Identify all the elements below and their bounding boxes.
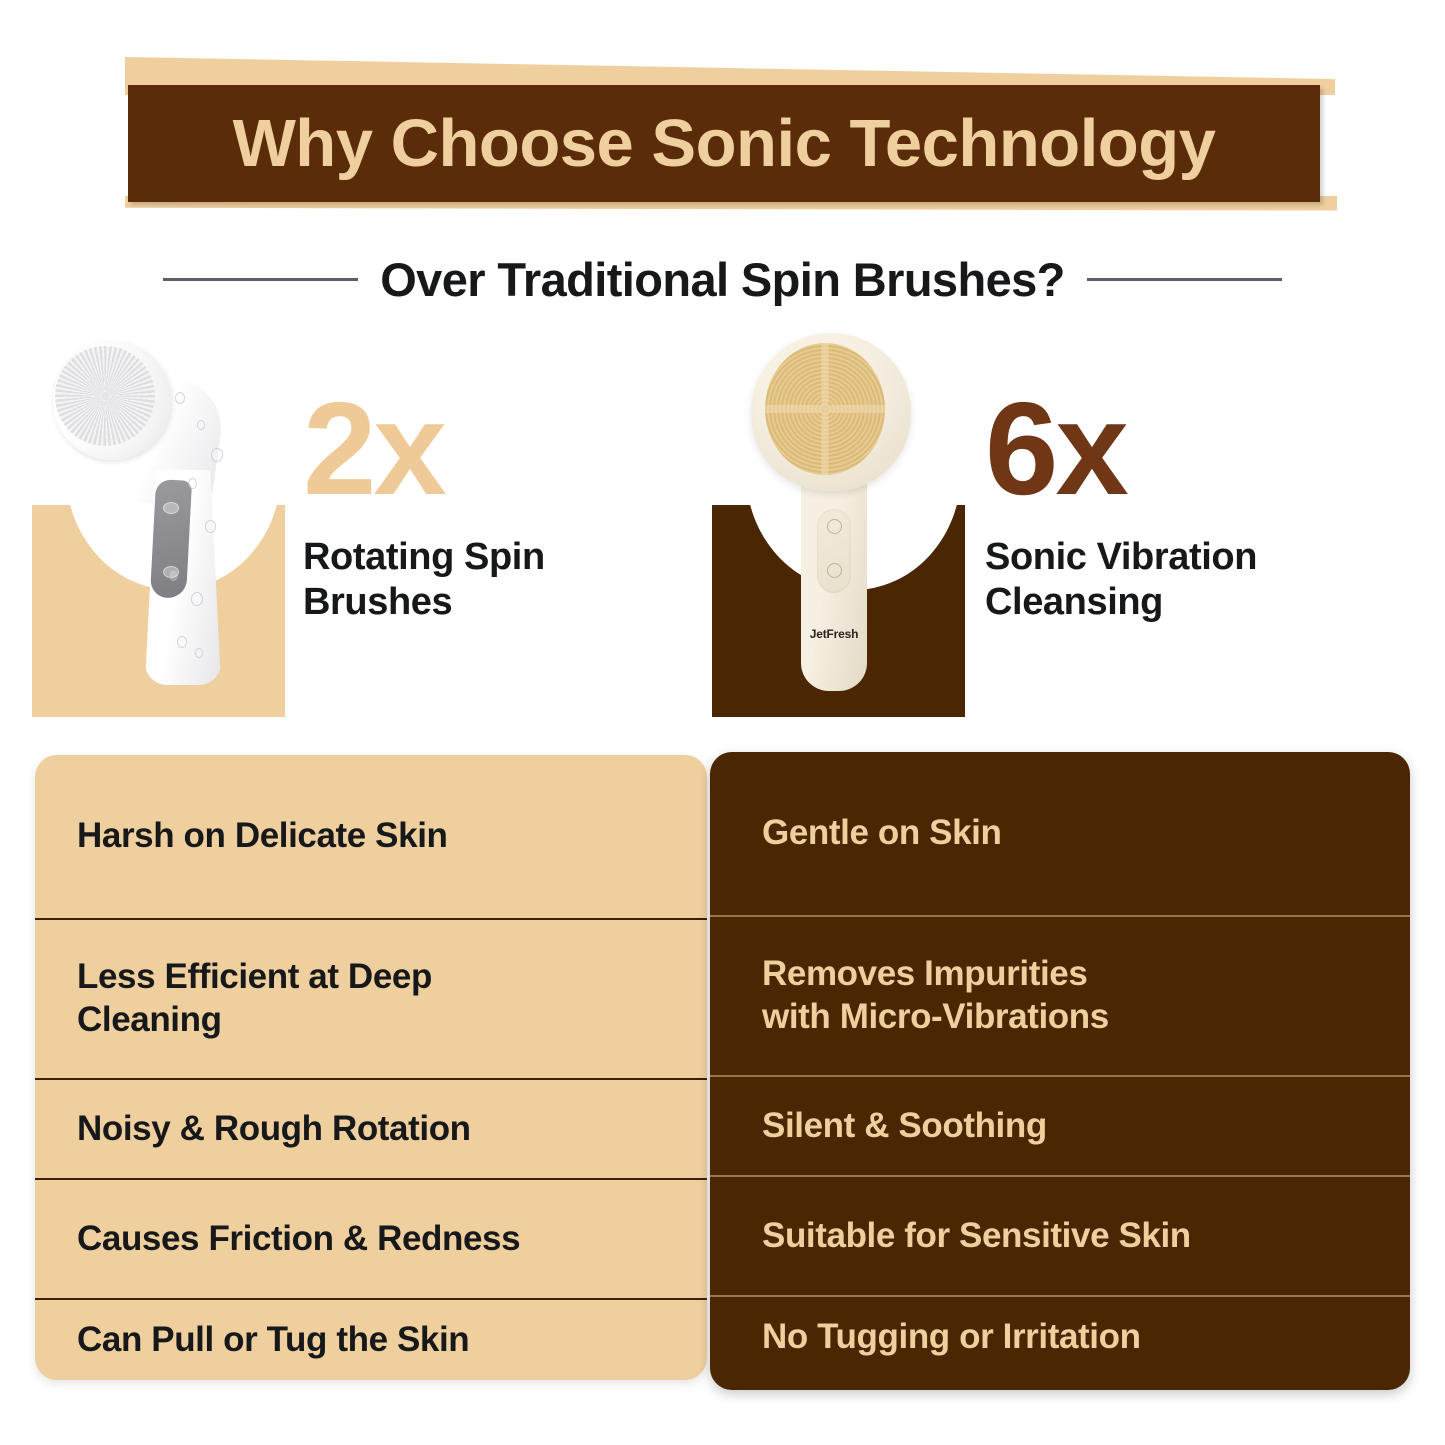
product-brand-label: JetFresh [803, 627, 865, 641]
pros-row-label: Suitable for Sensitive Skin [762, 1215, 1191, 1258]
cons-row-label: Causes Friction & Redness [77, 1218, 520, 1261]
product-comparison-row: 2x Rotating Spin Brushes JetFresh 6x Son… [0, 325, 1445, 735]
table-row: Noisy & Rough Rotation [35, 1080, 707, 1180]
multiplier-value: 2x [303, 383, 663, 515]
pros-row-label: Removes Impurities with Micro-Vibrations [762, 953, 1109, 1038]
table-row: Causes Friction & Redness [35, 1180, 707, 1300]
pros-row-label: Gentle on Skin [762, 812, 1001, 855]
table-row: Less Efficient at Deep Cleaning [35, 920, 707, 1080]
cons-card: Harsh on Delicate SkinLess Efficient at … [35, 755, 707, 1380]
cons-row-label: Can Pull or Tug the Skin [77, 1319, 469, 1362]
table-row: Silent & Soothing [710, 1077, 1410, 1177]
spin-brush-image [45, 330, 265, 700]
table-row: No Tugging or Irritation [710, 1297, 1410, 1377]
table-row: Suitable for Sensitive Skin [710, 1177, 1410, 1297]
table-row: Removes Impurities with Micro-Vibrations [710, 917, 1410, 1077]
subtitle-rule-right [1087, 278, 1282, 281]
multiplier-caption: Sonic Vibration Cleansing [985, 535, 1345, 625]
multiplier-caption: Rotating Spin Brushes [303, 535, 663, 625]
cons-row-label: Harsh on Delicate Skin [77, 815, 448, 858]
product-panel-spin-brush: 2x Rotating Spin Brushes [25, 325, 665, 735]
header-block: Why Choose Sonic Technology [0, 0, 1445, 230]
subtitle-rule-left [163, 278, 358, 281]
table-row: Harsh on Delicate Skin [35, 755, 707, 920]
table-row: Gentle on Skin [710, 752, 1410, 917]
page-title: Why Choose Sonic Technology [233, 110, 1216, 177]
multiplier-block-6x: 6x Sonic Vibration Cleansing [985, 383, 1345, 625]
sonic-brush-image: JetFresh [729, 327, 949, 707]
header-banner: Why Choose Sonic Technology [128, 85, 1320, 202]
pros-row-label: No Tugging or Irritation [762, 1316, 1141, 1359]
table-row: Can Pull or Tug the Skin [35, 1300, 707, 1380]
cons-row-label: Noisy & Rough Rotation [77, 1108, 471, 1151]
subtitle-row: Over Traditional Spin Brushes? [0, 248, 1445, 310]
pros-card: Gentle on SkinRemoves Impurities with Mi… [710, 752, 1410, 1390]
multiplier-block-2x: 2x Rotating Spin Brushes [303, 383, 663, 625]
page-subtitle: Over Traditional Spin Brushes? [380, 252, 1065, 307]
cons-row-label: Less Efficient at Deep Cleaning [77, 956, 432, 1041]
multiplier-value: 6x [985, 383, 1345, 515]
product-panel-sonic-brush: JetFresh 6x Sonic Vibration Cleansing [705, 325, 1345, 735]
pros-row-label: Silent & Soothing [762, 1105, 1047, 1148]
